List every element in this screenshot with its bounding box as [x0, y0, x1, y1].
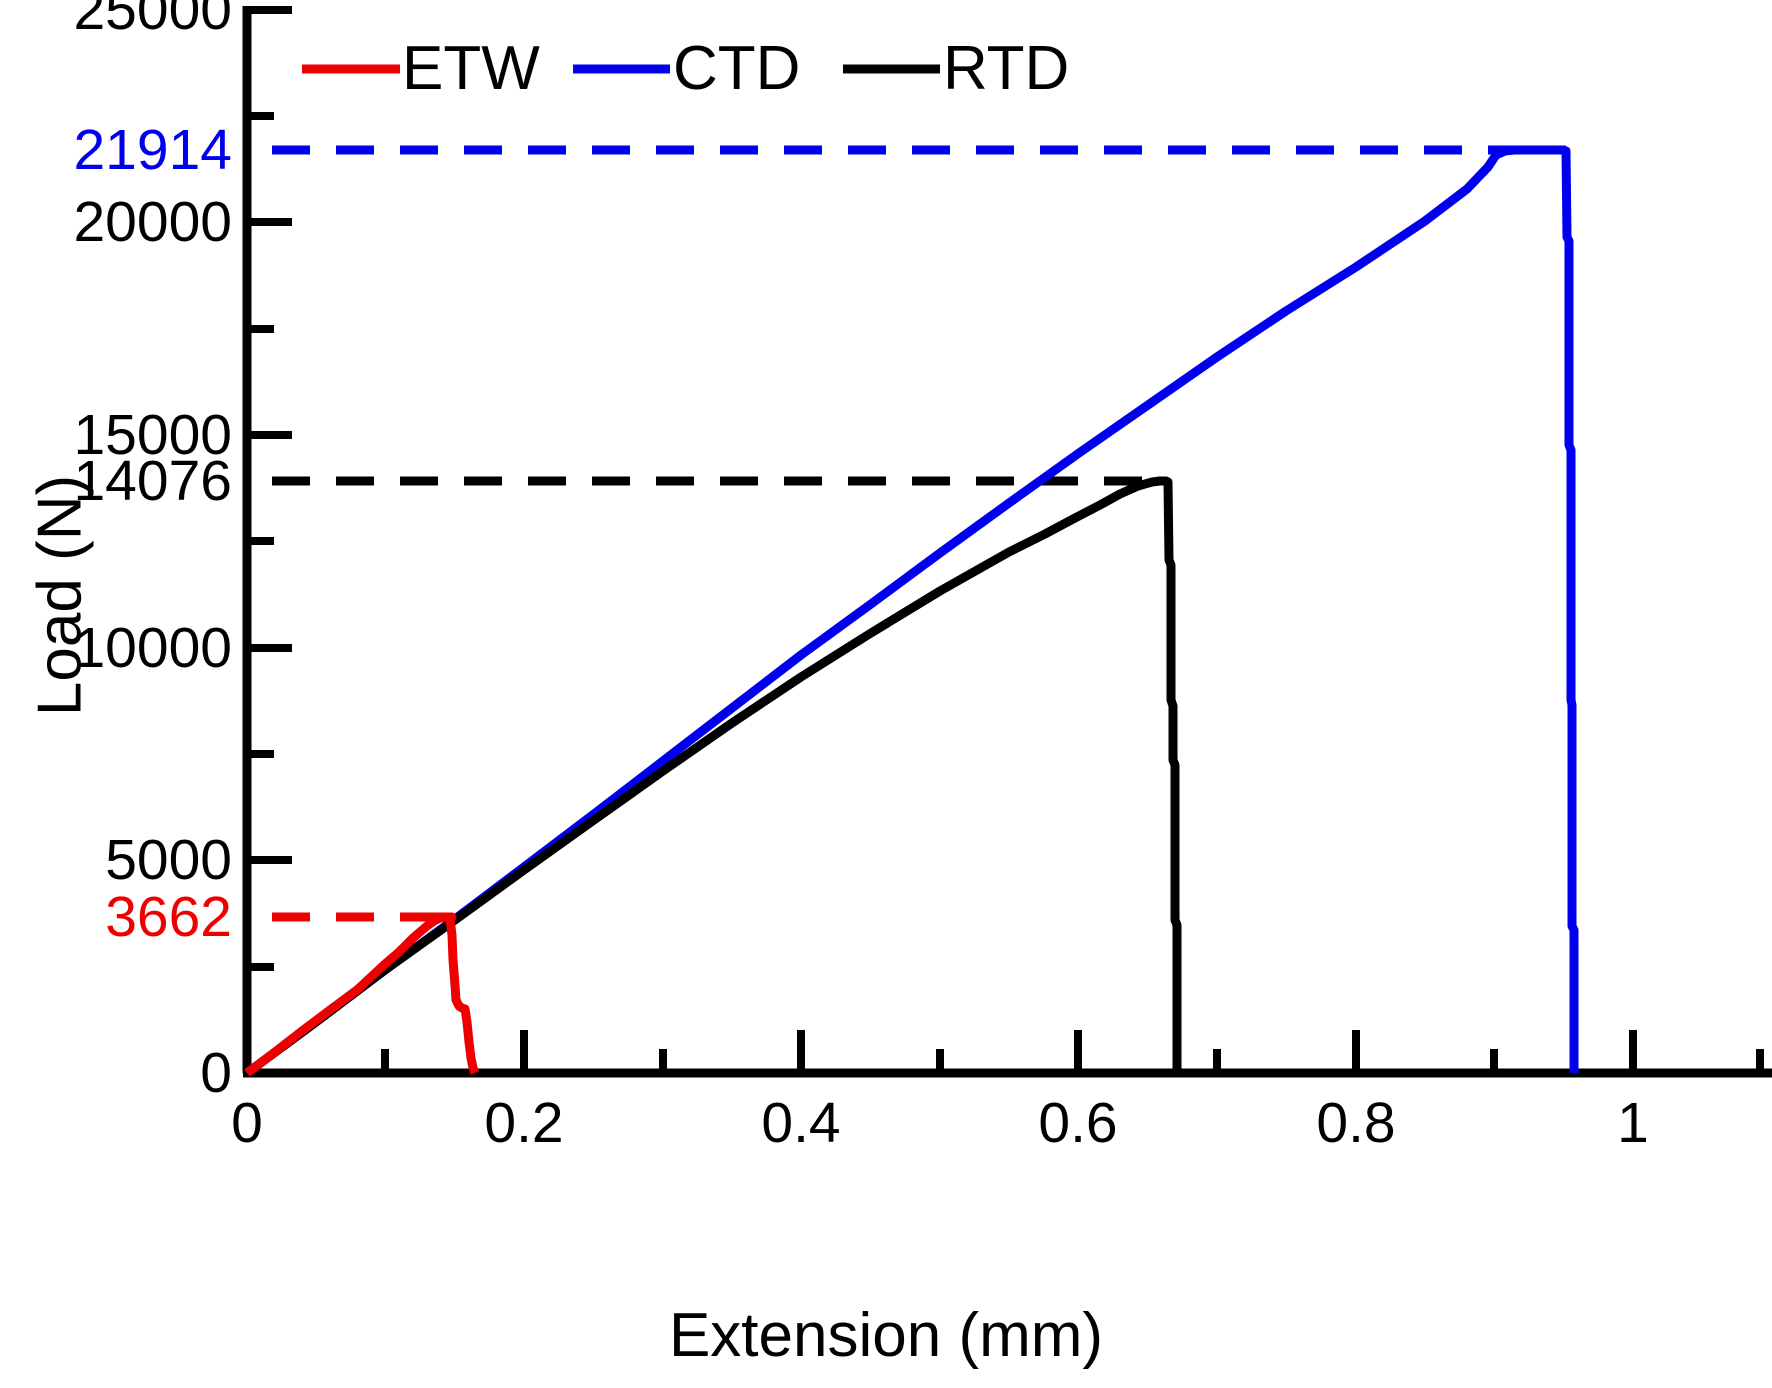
series-line-rtd	[247, 481, 1177, 1073]
legend-label-etw: ETW	[402, 38, 540, 100]
load-extension-chart: ETW CTD RTD 25000 20000 15000 10000 5000…	[0, 0, 1772, 1388]
y-callout-label-3662: 3662	[0, 889, 232, 946]
x-tick-label-0-4: 0.4	[721, 1095, 881, 1152]
x-tick-label-0-6: 0.6	[998, 1095, 1158, 1152]
y-axis-title: Load (N)	[25, 396, 96, 796]
legend-label-ctd: CTD	[673, 38, 800, 100]
y-callout-label-21914: 21914	[0, 122, 232, 179]
series-line-etw	[247, 917, 475, 1073]
x-axis-title: Extension (mm)	[0, 1300, 1772, 1371]
y-tick-label-20000: 20000	[0, 194, 232, 251]
y-tick-label-5000: 5000	[0, 832, 232, 889]
x-tick-label-0: 0	[167, 1095, 327, 1152]
y-tick-label-0: 0	[0, 1045, 232, 1102]
x-tick-label-0-8: 0.8	[1276, 1095, 1436, 1152]
x-tick-label-1: 1	[1553, 1095, 1713, 1152]
legend-label-rtd: RTD	[943, 38, 1069, 100]
y-tick-label-25000: 25000	[0, 0, 232, 39]
plot-area	[0, 0, 1772, 1388]
x-tick-label-0-2: 0.2	[444, 1095, 604, 1152]
